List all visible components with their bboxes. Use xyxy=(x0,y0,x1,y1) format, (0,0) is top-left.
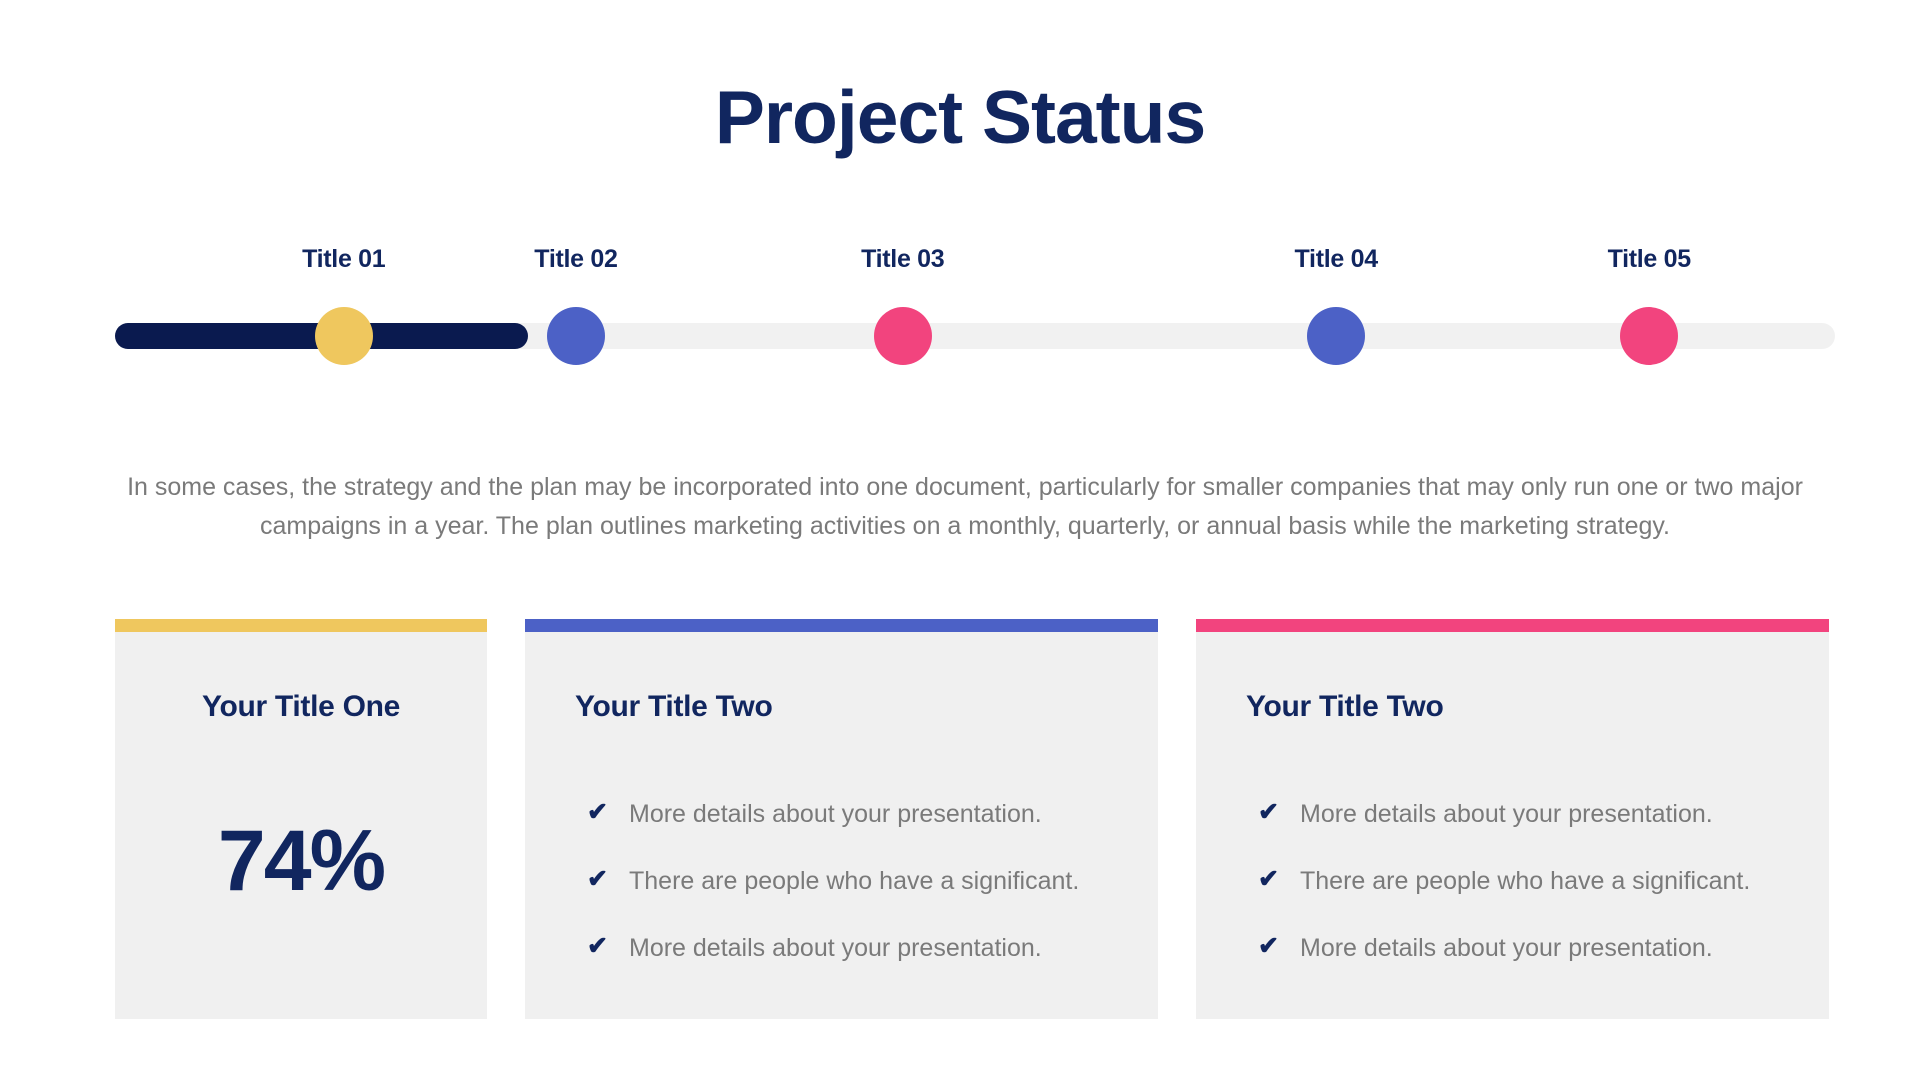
progress-track[interactable] xyxy=(115,323,1835,349)
list-card-blue-body: Your Title Two ✔ More details about your… xyxy=(525,632,1158,1019)
timeline-dot-03[interactable] xyxy=(874,307,932,365)
check-icon: ✔ xyxy=(1258,933,1300,961)
slide-root: Project Status Title 01 Title 02 Title 0… xyxy=(0,0,1920,1080)
list-card-pink-body: Your Title Two ✔ More details about your… xyxy=(1196,632,1829,1019)
list-item: ✔ More details about your presentation. xyxy=(1258,799,1779,829)
list-card-blue-title: Your Title Two xyxy=(575,690,1108,724)
timeline-label-row: Title 01 Title 02 Title 03 Title 04 Titl… xyxy=(115,245,1835,285)
check-icon: ✔ xyxy=(587,799,629,827)
check-icon: ✔ xyxy=(587,866,629,894)
check-icon: ✔ xyxy=(587,933,629,961)
timeline-label-01: Title 01 xyxy=(302,245,385,274)
list-item: ✔ There are people who have a significan… xyxy=(1258,866,1779,896)
list-item-label: More details about your presentation. xyxy=(629,799,1042,829)
list-item: ✔ More details about your presentation. xyxy=(587,933,1108,963)
timeline-label-04: Title 04 xyxy=(1295,245,1378,274)
timeline-dot-01[interactable] xyxy=(315,307,373,365)
intro-paragraph: In some cases, the strategy and the plan… xyxy=(125,468,1805,546)
timeline-dot-05[interactable] xyxy=(1620,307,1678,365)
timeline-label-03: Title 03 xyxy=(861,245,944,274)
stat-card: Your Title One 74% xyxy=(115,619,487,1019)
timeline-label-05: Title 05 xyxy=(1608,245,1691,274)
list-card-pink-bullets: ✔ More details about your presentation. … xyxy=(1246,799,1779,963)
list-item: ✔ There are people who have a significan… xyxy=(587,866,1108,896)
list-item-label: More details about your presentation. xyxy=(1300,933,1713,963)
page-title: Project Status xyxy=(0,78,1920,157)
stat-card-body: Your Title One 74% xyxy=(115,632,487,1019)
list-item-label: More details about your presentation. xyxy=(1300,799,1713,829)
stat-card-value: 74% xyxy=(218,818,384,904)
progress-timeline: Title 01 Title 02 Title 03 Title 04 Titl… xyxy=(115,245,1835,375)
list-item-label: There are people who have a significant. xyxy=(629,866,1079,896)
check-icon: ✔ xyxy=(1258,799,1300,827)
list-card-pink-title: Your Title Two xyxy=(1246,690,1779,724)
card-row: Your Title One 74% Your Title Two ✔ More… xyxy=(115,619,1835,1019)
card-accent-bar-pink xyxy=(1196,619,1829,632)
card-accent-bar-blue xyxy=(525,619,1158,632)
list-item: ✔ More details about your presentation. xyxy=(1258,933,1779,963)
list-card-blue: Your Title Two ✔ More details about your… xyxy=(525,619,1158,1019)
timeline-dot-04[interactable] xyxy=(1307,307,1365,365)
check-icon: ✔ xyxy=(1258,866,1300,894)
timeline-label-02: Title 02 xyxy=(534,245,617,274)
timeline-dot-02[interactable] xyxy=(547,307,605,365)
list-item-label: More details about your presentation. xyxy=(629,933,1042,963)
list-card-pink: Your Title Two ✔ More details about your… xyxy=(1196,619,1829,1019)
list-card-blue-bullets: ✔ More details about your presentation. … xyxy=(575,799,1108,963)
list-item-label: There are people who have a significant. xyxy=(1300,866,1750,896)
list-item: ✔ More details about your presentation. xyxy=(587,799,1108,829)
card-accent-bar-yellow xyxy=(115,619,487,632)
stat-card-title: Your Title One xyxy=(202,690,400,724)
